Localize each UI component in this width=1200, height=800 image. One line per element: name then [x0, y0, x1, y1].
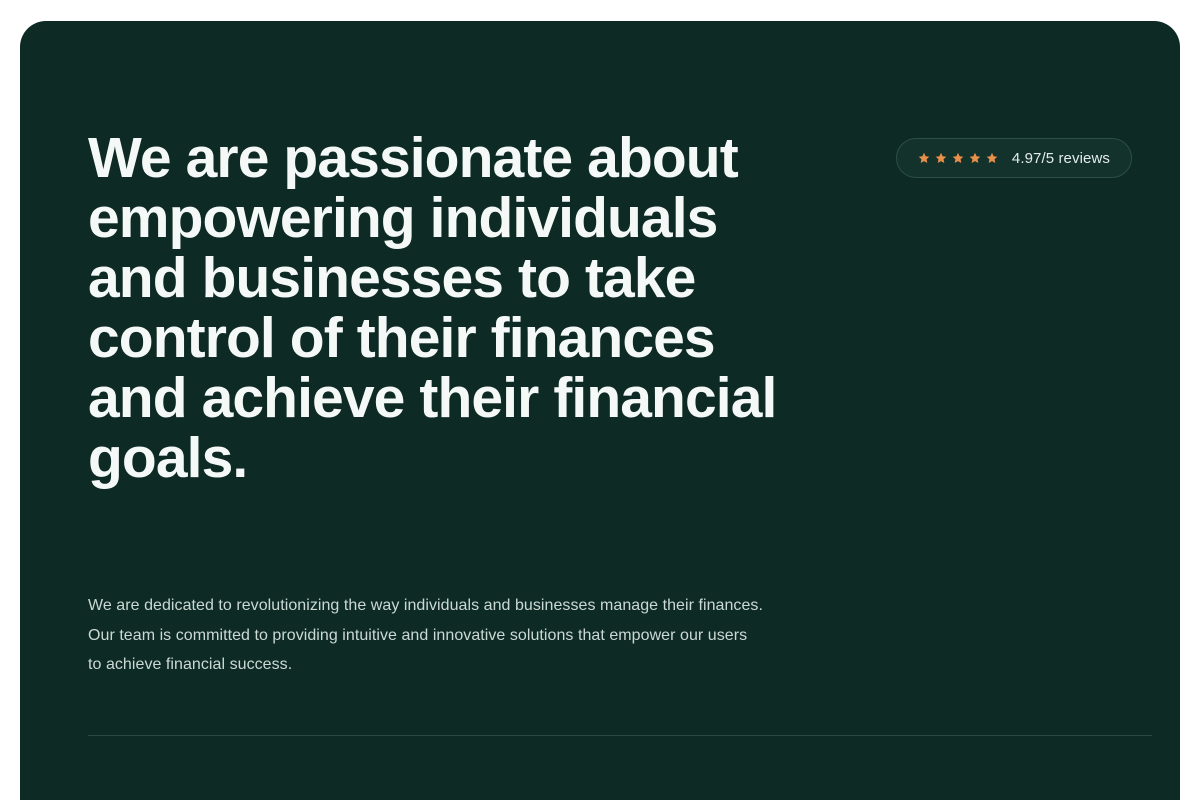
- page-root: 4.97/5 reviews We are passionate about e…: [0, 0, 1200, 800]
- star-filled-icon: [918, 152, 930, 164]
- star-rating: [918, 152, 998, 164]
- reviews-rating-label: 4.97/5 reviews: [1012, 150, 1110, 167]
- hero-section: 4.97/5 reviews We are passionate about e…: [20, 21, 1180, 800]
- star-filled-icon: [969, 152, 981, 164]
- section-divider: [88, 735, 1152, 736]
- star-filled-icon: [986, 152, 998, 164]
- star-filled-icon: [935, 152, 947, 164]
- hero-content-container: 4.97/5 reviews We are passionate about e…: [68, 21, 1132, 800]
- page-title: We are passionate about empowering indiv…: [88, 128, 788, 488]
- reviews-badge[interactable]: 4.97/5 reviews: [896, 138, 1132, 178]
- star-filled-icon: [952, 152, 964, 164]
- hero-description: We are dedicated to revolutionizing the …: [88, 591, 763, 680]
